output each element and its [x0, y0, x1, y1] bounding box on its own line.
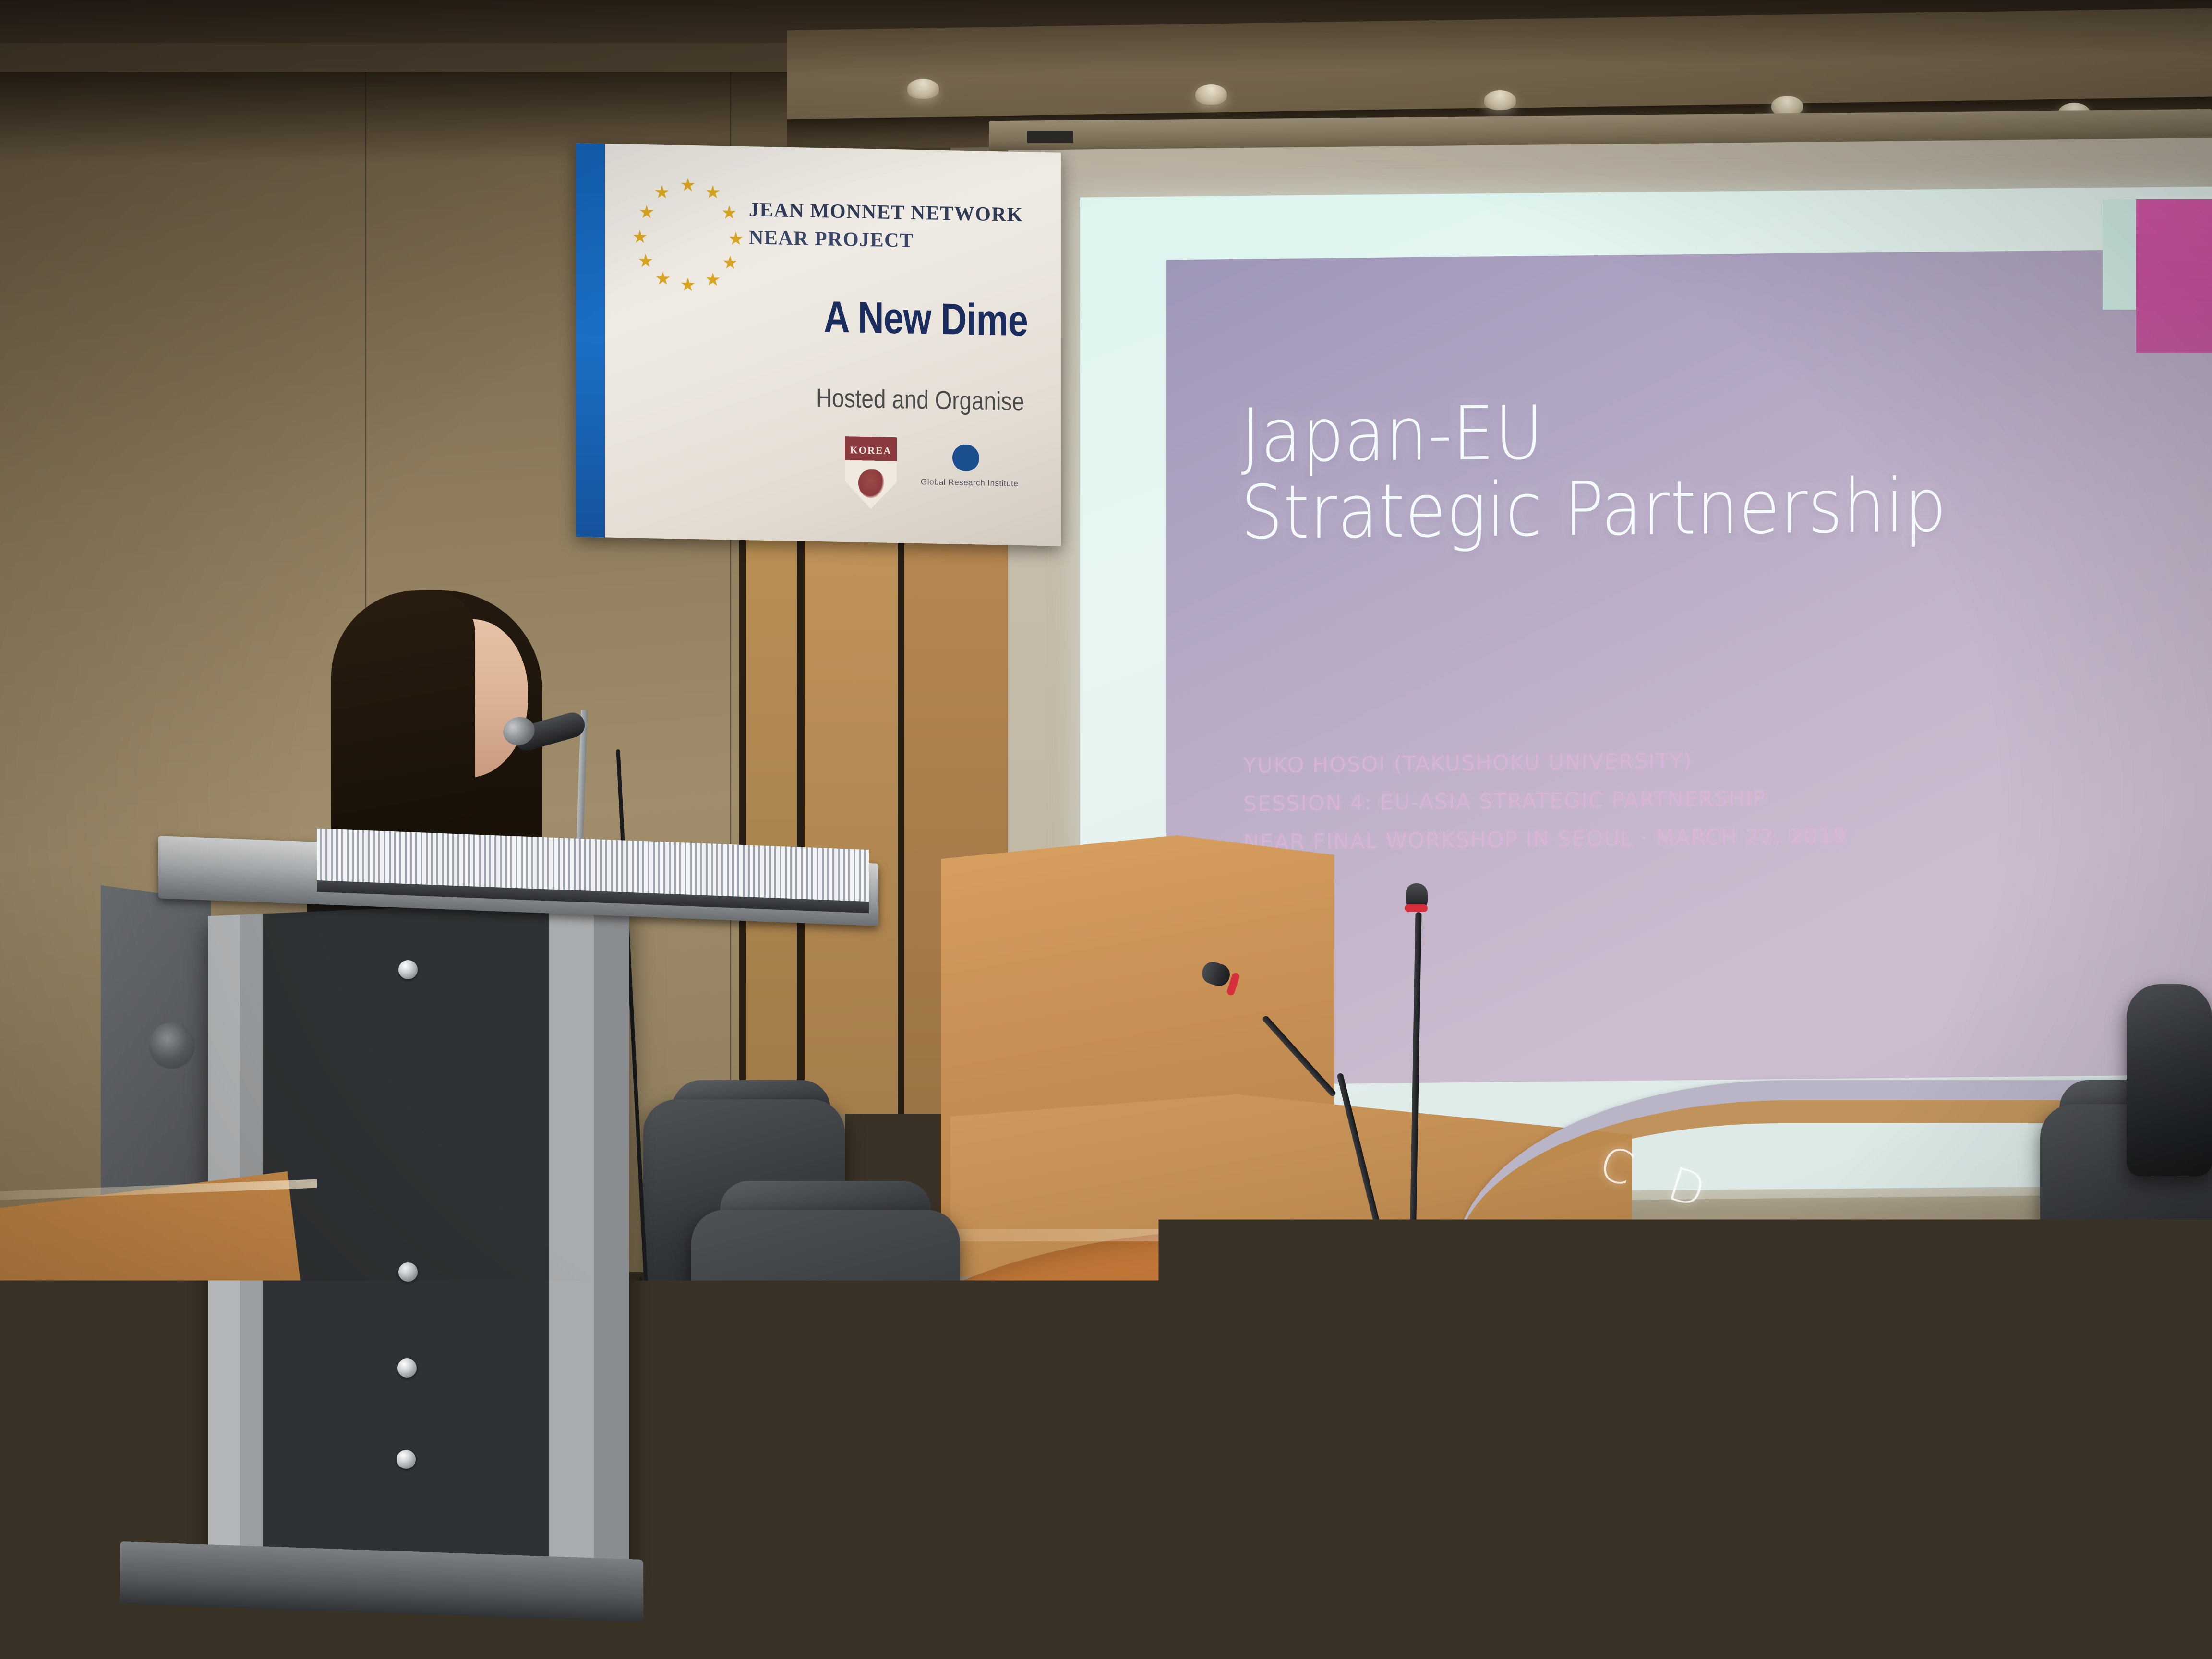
downlight-icon	[1484, 90, 1516, 110]
foreground-wood-counter	[0, 1171, 346, 1659]
projector-spill-magenta	[2136, 199, 2212, 353]
podium-stud	[398, 960, 418, 979]
microphone-indicator	[1415, 1376, 1431, 1382]
chair-back-right	[2127, 984, 2212, 1176]
banner-blue-stripe	[576, 143, 605, 537]
tent-card-clip	[1582, 1481, 1609, 1495]
banner-hosted-label: Hosted and Organise	[816, 383, 1024, 417]
slide-title-line2: Strategic Partnership	[1241, 469, 1947, 550]
chair	[691, 1210, 960, 1659]
microphone-red-ring	[1405, 904, 1428, 912]
podium-emblem-icon	[149, 1022, 195, 1069]
podium-stud	[397, 1358, 417, 1378]
side-microphone-head	[2041, 1277, 2069, 1305]
projector-spill-cyan	[2103, 199, 2139, 310]
slide-title-line1: Japan-EU	[1241, 396, 1544, 473]
global-research-label: Global Research Institute	[921, 477, 1018, 489]
event-banner: JEAN MONNET NETWORK NEAR PROJECT A New D…	[576, 143, 1061, 546]
podium-stud	[398, 1262, 418, 1282]
korea-crest-label: KOREA	[849, 444, 893, 457]
conference-room-photo: Japan-EU Strategic Partnership YUKO HOSO…	[0, 0, 2212, 1659]
downlight-icon	[907, 79, 939, 99]
slide-subtitle-session: SESSION 4: EU-ASIA STRATEGIC PARTNERSHIP	[1243, 786, 1767, 816]
banner-headline: A New Dime	[824, 292, 1028, 346]
banner-network-line1: JEAN MONNET NETWORK	[749, 198, 1023, 227]
screen-brand-label	[1027, 131, 1073, 143]
global-research-logo-icon	[952, 444, 979, 471]
slide-subtitle-author: YUKO HOSOI (TAKUSHOKU UNIVERSITY)	[1243, 749, 1693, 778]
downlight-icon	[1195, 84, 1227, 105]
banner-network-line2: NEAR PROJECT	[749, 226, 914, 252]
microphone-indicator	[1362, 1270, 1379, 1276]
podium-stud	[397, 1450, 416, 1469]
slide-subtitle-event: NEAR FINAL WORKSHOP IN SEOUL · MARCH 22,…	[1243, 824, 1847, 855]
eu-stars-icon	[633, 177, 743, 289]
chair-foreground	[1166, 1551, 1599, 1659]
